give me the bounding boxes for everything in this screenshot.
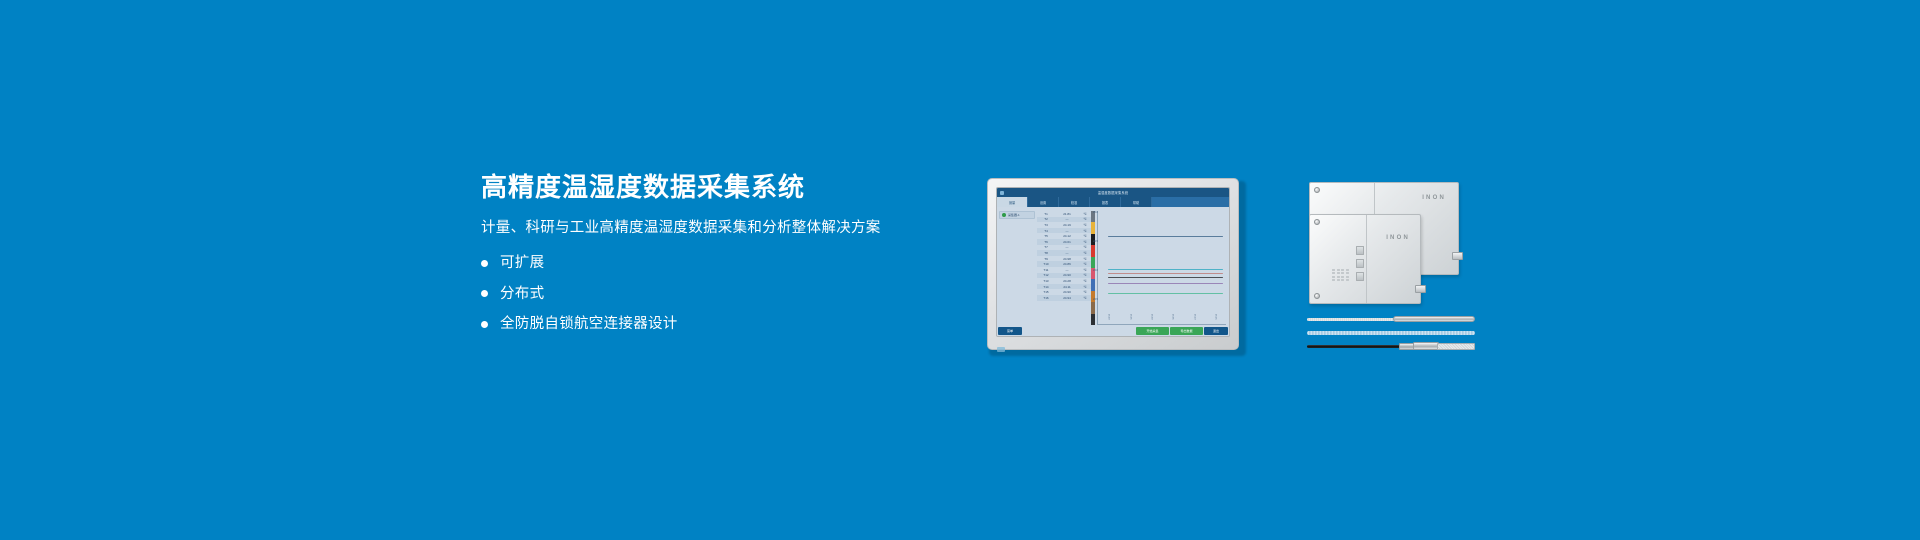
x-tick-label: 15:45	[1214, 314, 1216, 323]
chart-trace-line	[1108, 273, 1223, 274]
product-photos: INON INON	[1305, 176, 1477, 356]
list-item: 可扩展	[481, 256, 951, 271]
cell-value: ---	[1055, 217, 1079, 221]
tab-settings[interactable]: 设置	[1028, 197, 1059, 207]
cell-value: ---	[1055, 268, 1079, 272]
tab-measure[interactable]: 测量	[997, 197, 1028, 207]
cell-channel: T5	[1037, 234, 1055, 238]
menu-button[interactable]: 菜单	[998, 327, 1022, 335]
table-row: T11 --- ℃	[1037, 267, 1091, 273]
table-row: T15 24.90 ℃	[1037, 289, 1091, 295]
app-title: 温湿度数据采集系统	[997, 190, 1229, 195]
chart-trace-line	[1108, 236, 1223, 237]
enclosure-seam	[1366, 215, 1367, 303]
app-footer-toolbar: 菜单 开始采集 导出数据 退出	[997, 325, 1229, 336]
cell-value: 24.98	[1055, 257, 1079, 261]
table-row: T3 24.19 ℃	[1037, 222, 1091, 228]
cell-channel: T16	[1037, 296, 1055, 300]
x-tick-label: 15:35	[1172, 314, 1174, 323]
cable-gland-icon	[1415, 285, 1426, 293]
chart-x-axis: 15:2015:2515:3015:3515:4015:45	[1098, 314, 1226, 324]
list-item: 分布式	[481, 287, 951, 302]
color-legend-swatch	[1091, 314, 1095, 325]
start-acquisition-button[interactable]: 开始采集	[1136, 327, 1169, 335]
cell-channel: T1	[1037, 212, 1055, 216]
x-tick-label: 15:30	[1150, 314, 1152, 323]
port-column-icon	[1356, 246, 1364, 281]
screw-icon	[1314, 293, 1320, 299]
app-body: 采集器-1 T1 21.81 ℃ T2 ---	[997, 207, 1229, 325]
sidebar-item-collector-1[interactable]: 采集器-1	[999, 211, 1035, 219]
cell-value: 24.86	[1055, 262, 1079, 266]
device-node-label: 采集器-1	[1008, 213, 1020, 217]
cell-channel: T6	[1037, 240, 1055, 244]
cell-channel: T7	[1037, 245, 1055, 249]
tab-help[interactable]: 帮助	[1121, 197, 1152, 207]
monitor-screen: 温湿度数据采集系统 测量 设置 校准 报表 帮助	[996, 187, 1230, 337]
probe-tip	[1393, 316, 1475, 322]
x-tick-label: 15:20	[1108, 314, 1110, 323]
brand-logo-text: INON	[1422, 195, 1446, 201]
table-row: T12 24.90 ℃	[1037, 273, 1091, 279]
tab-calibration[interactable]: 校准	[1059, 197, 1090, 207]
sintered-filter-cap	[1437, 343, 1475, 350]
app-tab-bar: 测量 设置 校准 报表 帮助	[997, 197, 1229, 207]
table-row: T1 21.81 ℃	[1037, 211, 1091, 217]
chart-trace-line	[1108, 293, 1223, 294]
cell-value: 24.19	[1055, 223, 1079, 227]
cell-channel: T15	[1037, 290, 1055, 294]
device-tree-sidebar: 采集器-1	[997, 207, 1037, 325]
cell-channel: T3	[1037, 223, 1055, 227]
chart-plot-area	[1098, 211, 1226, 314]
app-titlebar: 温湿度数据采集系统	[997, 188, 1229, 197]
daq-application: 温湿度数据采集系统 测量 设置 校准 报表 帮助	[997, 188, 1229, 336]
cell-value: 24.61	[1055, 240, 1079, 244]
monitor-bezel: 温湿度数据采集系统 测量 设置 校准 报表 帮助	[987, 178, 1239, 350]
page-subtitle: 计量、科研与工业高精度温湿度数据采集和分析整体解决方案	[481, 219, 951, 238]
table-row: T14 24.11 ℃	[1037, 284, 1091, 290]
banner-copy: 高精度温湿度数据采集系统 计量、科研与工业高精度温湿度数据采集和分析整体解决方案…	[481, 172, 951, 332]
table-row: T6 24.61 ℃	[1037, 239, 1091, 245]
trend-chart: 25.024.524.023.5 15:2015:2515:3015:3515:…	[1097, 211, 1226, 325]
cell-channel: T2	[1037, 217, 1055, 221]
page-title: 高精度温湿度数据采集系统	[481, 172, 951, 203]
exit-button[interactable]: 退出	[1204, 327, 1228, 335]
chart-y-axis: 25.024.524.023.5	[1089, 211, 1098, 314]
x-tick-label: 15:40	[1193, 314, 1195, 323]
chart-trace-line	[1108, 269, 1223, 270]
product-banner: 高精度温湿度数据采集系统 计量、科研与工业高精度温湿度数据采集和分析整体解决方案…	[0, 0, 1920, 540]
bullet-dot-icon	[481, 321, 488, 328]
feature-label: 分布式	[500, 287, 544, 302]
bullet-dot-icon	[481, 260, 488, 267]
cell-channel: T8	[1037, 251, 1055, 255]
table-row: T8 --- ℃	[1037, 250, 1091, 256]
screw-icon	[1314, 187, 1320, 193]
chart-trace-line	[1108, 277, 1223, 278]
cell-value: 24.11	[1055, 285, 1079, 289]
cell-value: 24.90	[1055, 290, 1079, 294]
monitor-stand-foot	[997, 347, 1005, 352]
cell-value: 24.90	[1055, 273, 1079, 277]
probe-shaft	[1307, 331, 1475, 335]
list-item: 全防脱自锁航空连接器设计	[481, 317, 951, 332]
brand-logo-text: INON	[1386, 235, 1410, 241]
cell-value: 24.28	[1055, 279, 1079, 283]
probe-barrel	[1413, 342, 1439, 350]
x-tick-label: 15:25	[1129, 314, 1131, 323]
feature-list: 可扩展 分布式 全防脱自锁航空连接器设计	[481, 256, 951, 332]
panel-pc-monitor: 温湿度数据采集系统 测量 设置 校准 报表 帮助	[987, 178, 1246, 356]
cell-value: ---	[1055, 245, 1079, 249]
cell-value: 21.81	[1055, 212, 1079, 216]
chart-trace-line	[1108, 283, 1223, 284]
cell-value: ---	[1055, 251, 1079, 255]
export-data-button[interactable]: 导出数据	[1170, 327, 1203, 335]
cell-channel: T9	[1037, 257, 1055, 261]
table-row: T7 --- ℃	[1037, 245, 1091, 251]
cell-value: 24.12	[1055, 234, 1079, 238]
cell-value: 24.94	[1055, 296, 1079, 300]
probe-cable	[1307, 345, 1405, 349]
table-row: T9 24.98 ℃	[1037, 256, 1091, 262]
table-row: T4 --- ℃	[1037, 228, 1091, 234]
cell-channel: T10	[1037, 262, 1055, 266]
status-online-icon	[1002, 213, 1006, 217]
humidity-probe-with-sintered-filter	[1307, 342, 1475, 350]
cable-gland-icon	[1452, 252, 1463, 260]
feature-label: 全防脱自锁航空连接器设计	[500, 317, 678, 332]
table-row: T16 24.94 ℃	[1037, 295, 1091, 301]
feature-label: 可扩展	[500, 256, 544, 271]
enclosure-front-unit: INON	[1309, 214, 1421, 304]
tab-bar-filler	[1152, 197, 1229, 207]
table-row: T2 --- ℃	[1037, 217, 1091, 223]
vent-grid-icon	[1332, 269, 1349, 282]
flexible-blue-probe	[1307, 331, 1475, 335]
table-row: T5 24.12 ℃	[1037, 233, 1091, 239]
table-row: T13 24.28 ℃	[1037, 278, 1091, 284]
cell-channel: T12	[1037, 273, 1055, 277]
stainless-temperature-probe	[1307, 316, 1475, 322]
cell-channel: T13	[1037, 279, 1055, 283]
probe-shaft	[1307, 318, 1397, 321]
cell-channel: T14	[1037, 285, 1055, 289]
cell-channel: T4	[1037, 229, 1055, 233]
channel-readings-table[interactable]: T1 21.81 ℃ T2 --- ℃ T3 24.19	[1037, 207, 1091, 325]
screw-icon	[1314, 219, 1320, 225]
tab-report[interactable]: 报表	[1090, 197, 1121, 207]
cell-channel: T11	[1037, 268, 1055, 272]
bullet-dot-icon	[481, 290, 488, 297]
cell-value: ---	[1055, 229, 1079, 233]
table-row: T10 24.86 ℃	[1037, 261, 1091, 267]
